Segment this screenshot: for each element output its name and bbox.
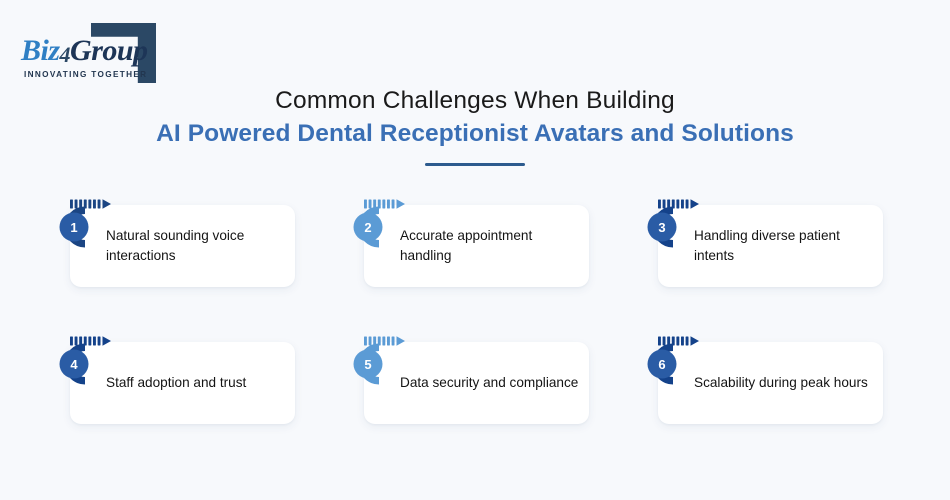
card-label: Staff adoption and trust <box>106 373 286 393</box>
challenge-card: Handling diverse patient intents3 <box>633 190 883 287</box>
card-label: Scalability during peak hours <box>694 373 874 393</box>
card-panel: Natural sounding voice interactions <box>70 205 295 287</box>
card-label: Natural sounding voice interactions <box>106 226 286 266</box>
logo-tagline: INNOVATING TOGETHER <box>24 70 147 79</box>
logo-word-biz: Biz <box>21 34 60 67</box>
challenge-card: Data security and compliance5 <box>339 327 589 424</box>
challenge-card: Scalability during peak hours6 <box>633 327 883 424</box>
challenge-card: Staff adoption and trust4 <box>45 327 295 424</box>
logo-word-group: Group <box>70 34 148 67</box>
card-label: Accurate appointment handling <box>400 226 580 266</box>
card-panel: Accurate appointment handling <box>364 205 589 287</box>
company-logo: Biz4Group INNOVATING TOGETHER <box>18 18 178 88</box>
logo-wordmark: Biz4Group <box>21 36 148 66</box>
title-divider <box>425 163 525 166</box>
challenge-card-grid: Natural sounding voice interactions1Accu… <box>45 190 910 424</box>
title-line-primary: Common Challenges When Building <box>0 86 950 116</box>
card-label: Handling diverse patient intents <box>694 226 874 266</box>
page-title: Common Challenges When Building AI Power… <box>0 86 950 166</box>
card-label: Data security and compliance <box>400 373 580 393</box>
card-panel: Staff adoption and trust <box>70 342 295 424</box>
title-line-secondary: AI Powered Dental Receptionist Avatars a… <box>0 119 950 149</box>
challenge-card: Natural sounding voice interactions1 <box>45 190 295 287</box>
card-panel: Handling diverse patient intents <box>658 205 883 287</box>
card-panel: Scalability during peak hours <box>658 342 883 424</box>
card-panel: Data security and compliance <box>364 342 589 424</box>
logo-word-four: 4 <box>60 42 71 67</box>
challenge-card: Accurate appointment handling2 <box>339 190 589 287</box>
